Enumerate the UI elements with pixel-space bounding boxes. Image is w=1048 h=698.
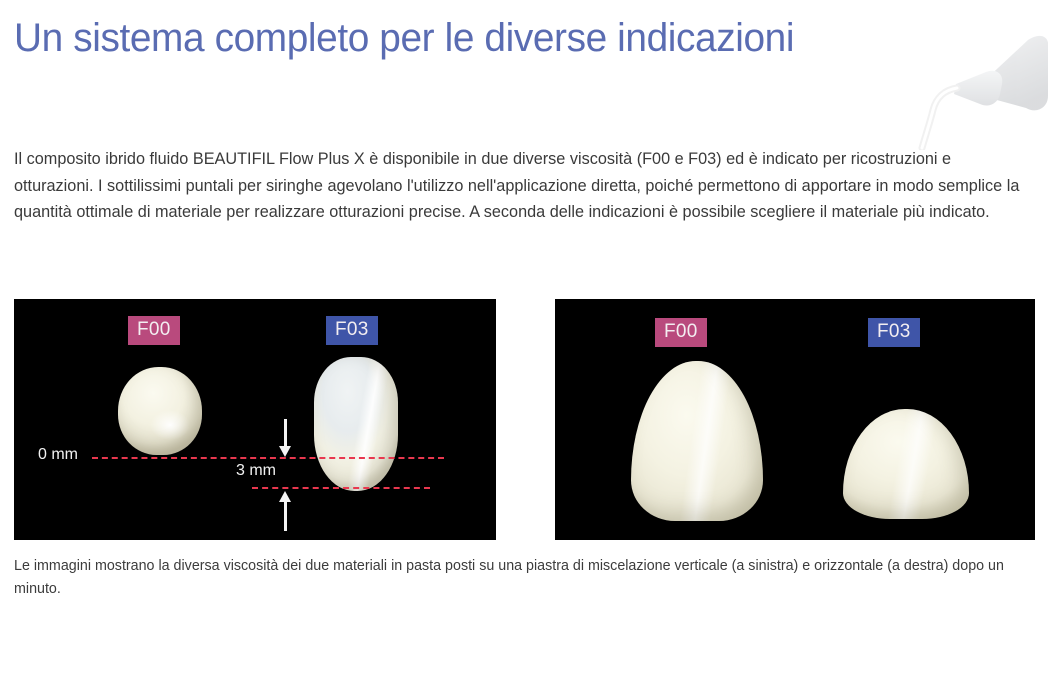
measurement-label-3mm: 3 mm — [236, 461, 276, 481]
figure-caption: Le immagini mostrano la diversa viscosit… — [14, 555, 1021, 601]
chip-f03-horizontal: F03 — [868, 318, 920, 347]
chip-f03-vertical: F03 — [326, 316, 378, 345]
measurement-line-0mm — [92, 457, 444, 459]
arrow-up-icon — [279, 491, 291, 531]
page-title: Un sistema completo per le diverse indic… — [14, 14, 794, 62]
panel-vertical-plate: 0 mm 3 mm F00 F03 — [14, 299, 496, 540]
material-blob-f00-horizontal — [631, 361, 763, 521]
measurement-label-0mm: 0 mm — [38, 445, 78, 465]
page-root: Un sistema completo per le diverse indic… — [0, 0, 1048, 698]
material-blob-f00-vertical — [118, 367, 202, 455]
chip-f00-horizontal: F00 — [655, 318, 707, 347]
material-blob-f03-vertical — [314, 357, 398, 491]
measurement-line-3mm — [252, 487, 430, 489]
arrow-down-icon — [279, 419, 291, 457]
chip-f00-vertical: F00 — [128, 316, 180, 345]
intro-paragraph: Il composito ibrido fluido BEAUTIFIL Flo… — [14, 146, 1021, 226]
material-blob-f03-horizontal — [843, 409, 969, 519]
syringe-tip-icon — [878, 30, 1048, 150]
figure-panels: 0 mm 3 mm F00 F03 F00 F03 — [0, 299, 1048, 540]
panel-horizontal-plate: F00 F03 — [555, 299, 1035, 540]
